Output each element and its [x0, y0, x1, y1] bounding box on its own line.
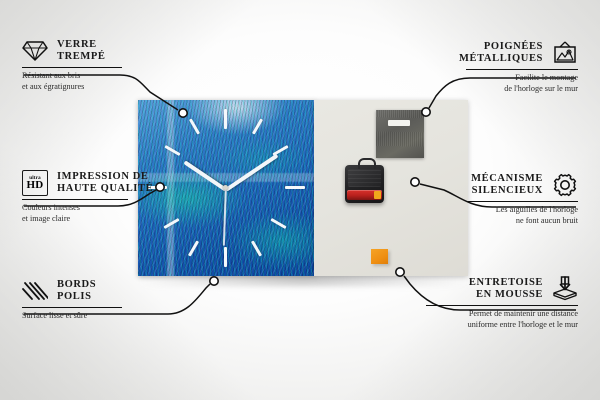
hour-marker: [163, 218, 179, 229]
hour-hand: [183, 160, 227, 191]
callout-subtitle: Surface lisse et sûre: [22, 311, 152, 321]
mechanism-hang-loop: [358, 158, 376, 169]
hour-marker: [188, 240, 199, 256]
callout-rule: [466, 69, 578, 70]
callout-rule: [22, 199, 128, 200]
callout-rule: [22, 307, 122, 308]
callout-subtitle: Facilite le montagede l'horloge sur le m…: [436, 73, 578, 93]
minute-hand: [225, 154, 279, 192]
callout-subtitle: Les aiguilles de l'horlogene font aucun …: [434, 205, 578, 225]
hour-marker: [285, 186, 305, 189]
hour-marker: [252, 118, 263, 134]
callout-title: ENTRETOISEEN MOUSSE: [469, 277, 543, 302]
callout-title: MÉCANISMESILENCIEUX: [471, 173, 543, 198]
callout-header: POIGNÉESMÉTALLIQUES: [436, 40, 578, 66]
clock-movement-part: [345, 165, 384, 203]
hour-marker: [251, 240, 262, 256]
hanger-slot: [388, 120, 410, 126]
callout-rule: [466, 201, 578, 202]
foam-spacer-part: [371, 249, 388, 264]
callout-entretoise-en-mousse: ENTRETOISEEN MOUSSE Permet de maintenir …: [420, 276, 578, 330]
callout-poignees-metalliques: POIGNÉESMÉTALLIQUES Facilite le montaged…: [436, 40, 578, 94]
callout-subtitle: Permet de maintenir une distanceuniforme…: [420, 309, 578, 329]
callout-header: ENTRETOISEEN MOUSSE: [420, 276, 578, 302]
second-hand: [223, 190, 227, 246]
hour-marker: [224, 247, 227, 267]
ultra-hd-icon-main-label: HD: [26, 180, 43, 191]
callout-title: POIGNÉESMÉTALLIQUES: [459, 41, 543, 66]
mechanism-body: [348, 169, 381, 187]
diamond-icon: [22, 38, 48, 64]
callout-title: VERRETREMPÉ: [57, 39, 106, 64]
picture-frame-hanger-icon: [552, 40, 578, 66]
callout-subtitle: Résistant aux briset aux égratignures: [22, 71, 152, 91]
hour-marker: [164, 145, 180, 156]
callout-subtitle: Couleurs intenseset image claire: [22, 203, 162, 223]
battery: [347, 190, 382, 200]
callout-title: IMPRESSION DEHAUTE QUALITÉ: [57, 171, 153, 196]
foam-spacer-icon: [552, 276, 578, 302]
callout-bords-polis: BORDSPOLIS Surface lisse et sûre: [22, 278, 152, 322]
gear-icon: [552, 172, 578, 198]
callout-rule: [22, 67, 122, 68]
metal-hanger-part: [376, 110, 424, 158]
polished-edges-icon: [22, 278, 48, 304]
callout-rule: [426, 305, 578, 306]
hour-marker: [224, 109, 227, 129]
clock-front-face: [138, 100, 315, 276]
hour-marker: [189, 118, 200, 134]
callout-title: BORDSPOLIS: [57, 279, 96, 304]
clock-pivot: [223, 185, 228, 190]
callout-header: VERRETREMPÉ: [22, 38, 152, 64]
product-image: [138, 100, 468, 278]
ultra-hd-icon: ultra HD: [22, 170, 48, 196]
callout-mecanisme-silencieux: MÉCANISMESILENCIEUX Les aiguilles de l'h…: [434, 172, 578, 226]
callout-impression-haute-qualite: ultra HD IMPRESSION DEHAUTE QUALITÉ Coul…: [22, 170, 162, 224]
callout-header: BORDSPOLIS: [22, 278, 152, 304]
callout-header: MÉCANISMESILENCIEUX: [434, 172, 578, 198]
callout-verre-trempe: VERRETREMPÉ Résistant aux briset aux égr…: [22, 38, 152, 92]
hour-marker: [270, 218, 286, 229]
infographic-canvas: VERRETREMPÉ Résistant aux briset aux égr…: [0, 0, 600, 400]
callout-header: ultra HD IMPRESSION DEHAUTE QUALITÉ: [22, 170, 162, 196]
